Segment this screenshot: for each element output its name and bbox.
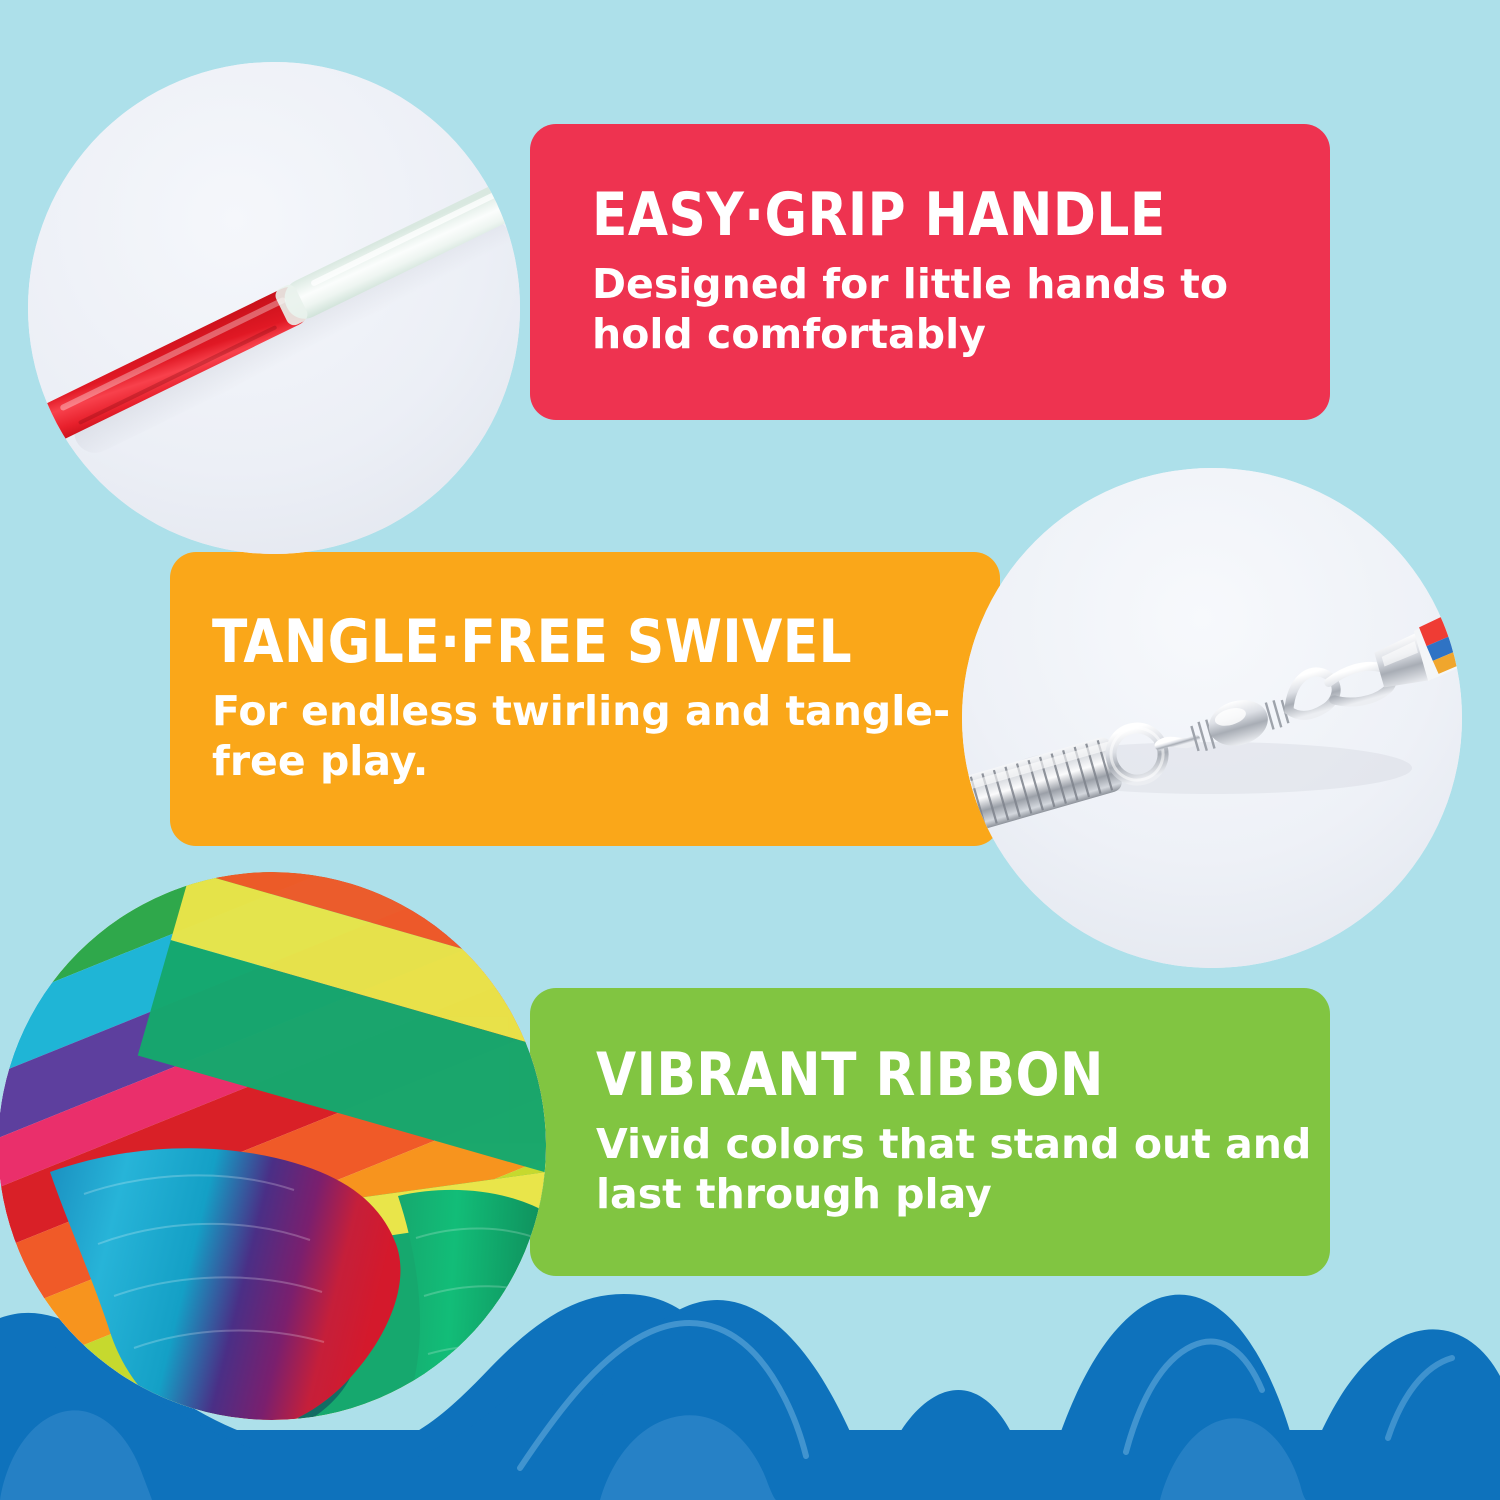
- feature-image-red-handle-photo: [28, 62, 520, 554]
- feature-subtitle-tangle-free-swivel: For endless twirling and tangle-free pla…: [212, 686, 1000, 787]
- feature-subtitle-easy-grip-handle: Designed for little hands to hold comfor…: [592, 259, 1330, 360]
- feature-panel-vibrant-ribbon: VIBRANT RIBBON Vivid colors that stand o…: [530, 988, 1330, 1276]
- feature-panel-tangle-free-swivel: TANGLE·FREE SWIVEL For endless twirling …: [170, 552, 1000, 846]
- feature-heading-tangle-free-swivel: TANGLE·FREE SWIVEL: [212, 612, 968, 672]
- infographic-canvas: TANGLE·FREE SWIVEL For endless twirling …: [0, 0, 1500, 1500]
- feature-subtitle-vibrant-ribbon: Vivid colors that stand out and last thr…: [596, 1119, 1330, 1220]
- feature-panel-easy-grip-handle: EASY·GRIP HANDLE Designed for little han…: [530, 124, 1330, 420]
- feature-image-rainbow-ribbon-photo: [0, 872, 546, 1420]
- feature-image-metal-swivel-photo: [962, 468, 1462, 968]
- feature-heading-vibrant-ribbon: VIBRANT RIBBON: [596, 1045, 1301, 1105]
- feature-heading-easy-grip-handle: EASY·GRIP HANDLE: [592, 185, 1300, 245]
